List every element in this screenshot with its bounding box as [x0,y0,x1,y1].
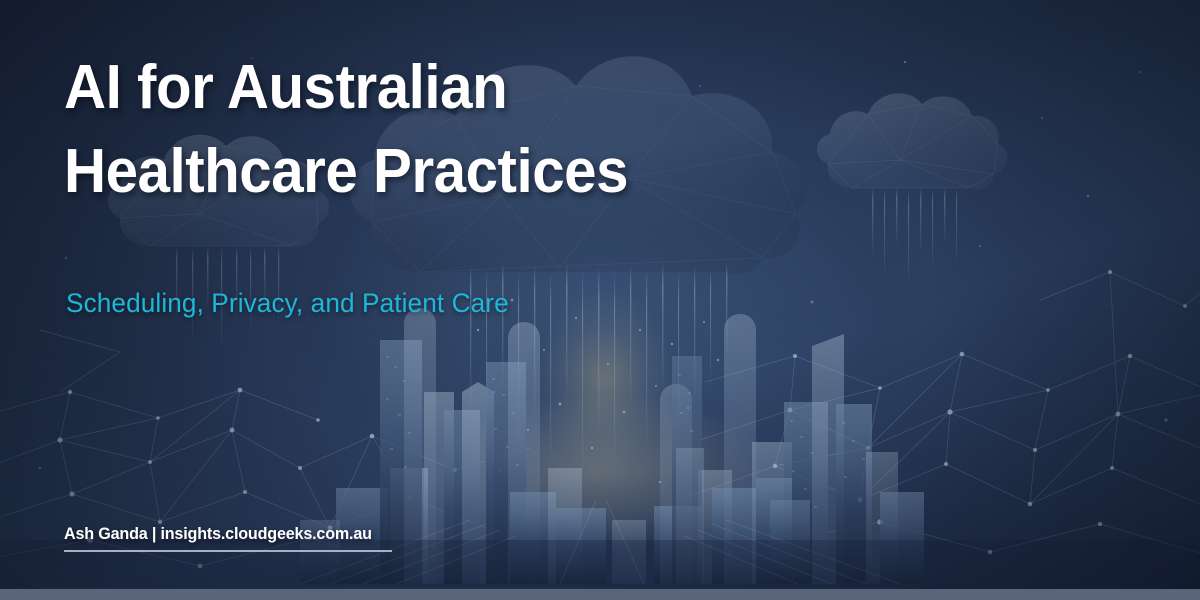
footer-rule [64,550,392,552]
bottom-strip [0,589,1200,600]
footer-credit: Ash Ganda | insights.cloudgeeks.com.au [64,523,394,552]
page-title: AI for Australian Healthcare Practices [64,46,835,214]
footer-credit-text: Ash Ganda | insights.cloudgeeks.com.au [64,523,378,545]
page-subtitle: Scheduling, Privacy, and Patient Care [66,286,509,320]
banner-content: AI for Australian Healthcare Practices S… [0,0,1200,600]
hero-banner: AI for Australian Healthcare Practices S… [0,0,1200,600]
